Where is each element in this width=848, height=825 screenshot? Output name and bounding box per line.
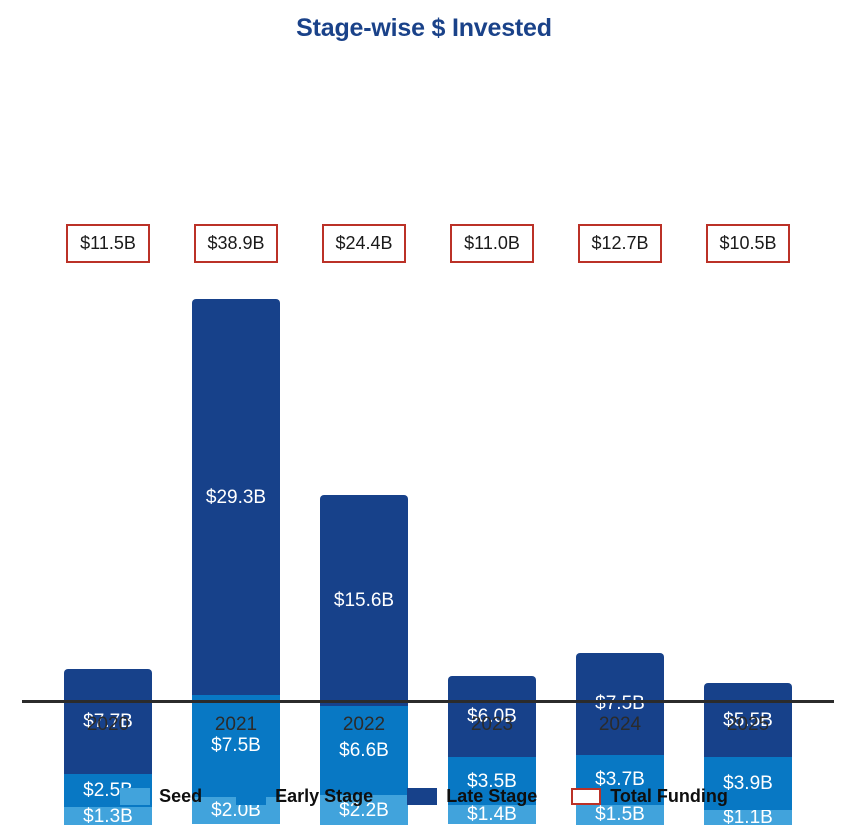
total-funding-label-2020: $11.5B — [66, 224, 150, 263]
legend-swatch-seed-icon — [120, 788, 150, 805]
legend-item-label: Seed — [159, 786, 202, 807]
segment-value-label: $1.1B — [723, 810, 773, 825]
legend-item-label: Total Funding — [610, 786, 728, 807]
bar-segment-seed-2025[interactable]: $1.1B — [704, 810, 792, 825]
x-tick-label-2024: 2024 — [576, 714, 664, 736]
segment-value-label: $7.5B — [211, 736, 261, 755]
total-funding-label-2023: $11.0B — [450, 224, 534, 263]
stacked-bar-2021[interactable]: $29.3B$7.5B$2.0B — [192, 299, 280, 825]
x-axis-line — [22, 700, 834, 703]
segment-value-label: $6.6B — [339, 741, 389, 760]
bar-segment-seed-2024[interactable]: $1.5B — [576, 805, 664, 825]
legend-item-label: Late Stage — [446, 786, 537, 807]
legend-item-early[interactable]: Early Stage — [236, 786, 373, 807]
segment-value-label: $1.5B — [595, 805, 645, 824]
legend-swatch-early-icon — [236, 788, 266, 805]
segment-value-label: $7.5B — [595, 694, 645, 713]
segment-value-label: $29.3B — [206, 488, 266, 507]
bar-segment-late-stage-2024[interactable]: $7.5B — [576, 653, 664, 754]
x-tick-label-2022: 2022 — [320, 714, 408, 736]
total-funding-label-2024: $12.7B — [578, 224, 662, 263]
bar-segment-seed-2023[interactable]: $1.4B — [448, 805, 536, 824]
chart-legend: SeedEarly StageLate StageTotal Funding — [0, 786, 848, 807]
legend-swatch-total-icon — [571, 788, 601, 805]
stacked-bar-2022[interactable]: $15.6B$6.6B$2.2B — [320, 495, 408, 825]
legend-item-seed[interactable]: Seed — [120, 786, 202, 807]
x-tick-label-2020: 2020 — [64, 714, 152, 736]
segment-value-label: $15.6B — [334, 591, 394, 610]
total-funding-label-2021: $38.9B — [194, 224, 278, 263]
segment-value-label: $1.3B — [83, 807, 133, 825]
stacked-bar-chart: Stage-wise $ Invested $11.5B$7.7B$2.5B$1… — [0, 0, 848, 825]
total-funding-label-2022: $24.4B — [322, 224, 406, 263]
x-tick-label-2025: 2025 — [704, 714, 792, 736]
bar-segment-early-stage-2021[interactable]: $7.5B — [192, 695, 280, 796]
legend-item-label: Early Stage — [275, 786, 373, 807]
segment-value-label: $1.4B — [467, 805, 517, 824]
bar-segment-late-stage-2021[interactable]: $29.3B — [192, 299, 280, 695]
total-funding-label-2025: $10.5B — [706, 224, 790, 263]
legend-item-total[interactable]: Total Funding — [571, 786, 728, 807]
bar-segment-seed-2020[interactable]: $1.3B — [64, 807, 152, 825]
legend-item-late[interactable]: Late Stage — [407, 786, 537, 807]
legend-swatch-late-icon — [407, 788, 437, 805]
x-tick-label-2021: 2021 — [192, 714, 280, 736]
x-tick-label-2023: 2023 — [448, 714, 536, 736]
bar-segment-late-stage-2022[interactable]: $15.6B — [320, 495, 408, 706]
